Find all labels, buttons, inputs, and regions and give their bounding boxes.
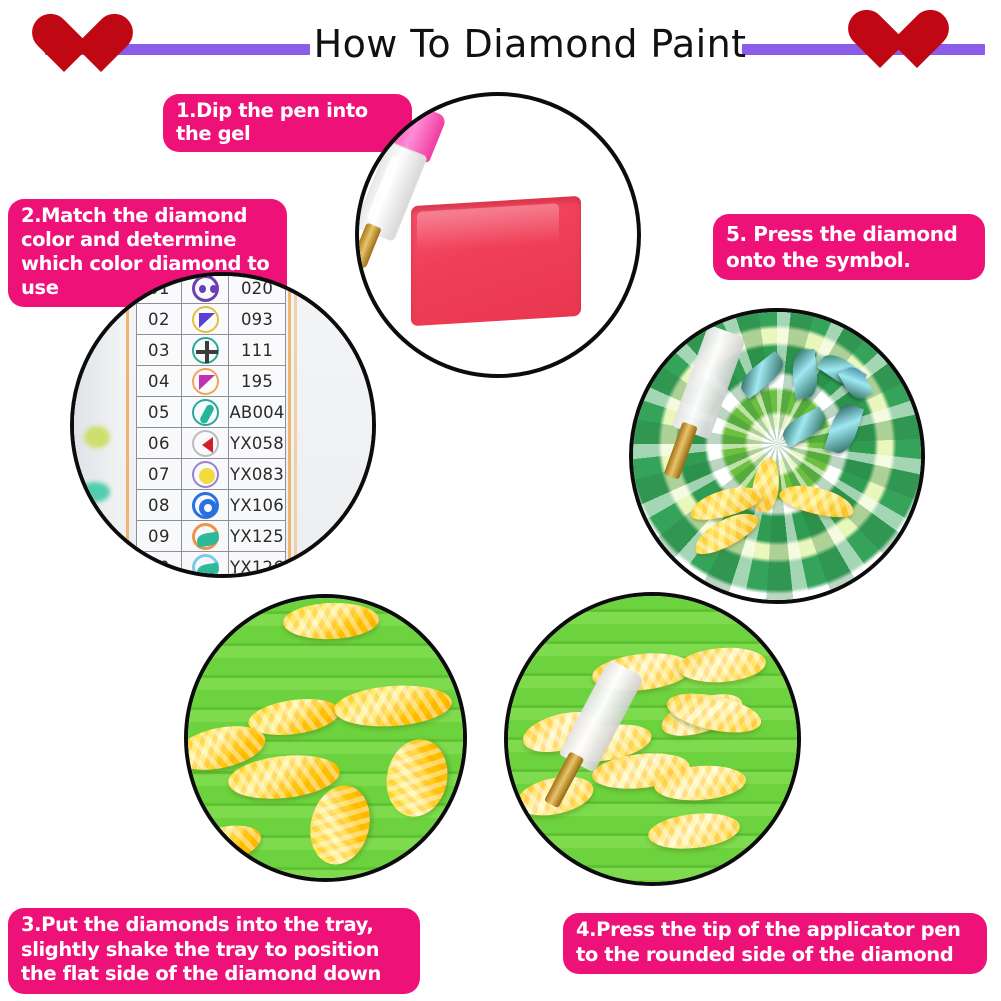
- symbol-triangle-quarter-icon: [192, 306, 219, 333]
- orange-guide-line: [126, 276, 129, 574]
- color-chart-row: 09YX125: [137, 521, 286, 552]
- chart-cell-code: YX106: [229, 490, 286, 521]
- color-chart-row: 07YX083: [137, 459, 286, 490]
- color-chart-row: 06YX058: [137, 428, 286, 459]
- orange-guide-line: [294, 276, 297, 574]
- chart-cell-code: YX125: [229, 521, 286, 552]
- color-chart-row: 01020: [137, 273, 286, 304]
- pen-tip: [664, 422, 698, 480]
- chart-cell-number: 10: [137, 552, 182, 579]
- canvas-edge: [74, 276, 120, 574]
- chart-cell-code: YX083: [229, 459, 286, 490]
- color-symbol-table: 0102002093031110419505AB00406YX05807YX08…: [136, 272, 286, 578]
- chart-cell-symbol: [182, 335, 229, 366]
- page-title: How To Diamond Paint: [300, 19, 760, 69]
- color-chart-row: 02093: [137, 304, 286, 335]
- chart-cell-code: AB004: [229, 397, 286, 428]
- color-chart-photo: 0102002093031110419505AB00406YX05807YX08…: [74, 276, 372, 574]
- header: How To Diamond Paint: [0, 0, 1001, 88]
- step-3-label: 3.Put the diamonds into the tray, slight…: [8, 908, 420, 994]
- color-chart-row: 10YX126: [137, 552, 286, 579]
- paint-blob: [84, 426, 110, 448]
- chart-cell-number: 02: [137, 304, 182, 335]
- symbol-slash-bar-icon: [192, 399, 219, 426]
- chart-cell-code: 020: [229, 273, 286, 304]
- step-1-photo: [355, 92, 641, 378]
- gel-photo: [359, 96, 637, 374]
- paint-blob: [90, 531, 114, 547]
- chart-cell-symbol: [182, 490, 229, 521]
- color-chart-row: 04195: [137, 366, 286, 397]
- pink-gel-pad: [411, 196, 581, 326]
- chart-cell-number: 04: [137, 366, 182, 397]
- symbol-double-dot-circle-icon: [192, 275, 219, 302]
- chart-cell-number: 08: [137, 490, 182, 521]
- chart-cell-symbol: [182, 366, 229, 397]
- symbol-leaf-shape-icon: [192, 554, 219, 579]
- heart-icon: [64, 16, 128, 78]
- orange-guide-line: [288, 276, 291, 574]
- chart-cell-number: 05: [137, 397, 182, 428]
- pen-tip: [355, 223, 382, 270]
- symbol-plus-cross-icon: [192, 337, 219, 364]
- infographic-page: How To Diamond Paint 1.Dip the pen into …: [0, 0, 1001, 1001]
- chart-cell-symbol: [182, 521, 229, 552]
- step-3-photo: [184, 594, 467, 882]
- chart-cell-symbol: [182, 552, 229, 579]
- chart-cell-number: 03: [137, 335, 182, 366]
- pen-tip: [544, 751, 584, 808]
- color-chart-row: 05AB004: [137, 397, 286, 428]
- tray-pen-photo: [508, 596, 797, 882]
- symbol-leaf-shape-icon: [192, 523, 219, 550]
- chart-cell-code: YX058: [229, 428, 286, 459]
- chart-cell-code: 195: [229, 366, 286, 397]
- step-5-photo: [629, 308, 925, 604]
- tray-photo: [188, 598, 463, 878]
- symbol-open-ring-icon: [192, 492, 219, 519]
- paint-blob: [80, 482, 110, 502]
- mandala-photo: [633, 312, 921, 600]
- chart-cell-symbol: [182, 428, 229, 459]
- symbol-filled-dot-icon: [192, 461, 219, 488]
- color-chart-row: 03111: [137, 335, 286, 366]
- symbol-left-chevron-icon: [192, 430, 219, 457]
- chart-cell-number: 06: [137, 428, 182, 459]
- heart-icon: [880, 12, 944, 74]
- chart-cell-symbol: [182, 459, 229, 490]
- step-2-photo: 0102002093031110419505AB00406YX05807YX08…: [70, 272, 376, 578]
- chart-cell-code: YX126: [229, 552, 286, 579]
- step-4-photo: [504, 592, 801, 886]
- chart-cell-symbol: [182, 397, 229, 428]
- step-4-label: 4.Press the tip of the applicator pen to…: [563, 913, 987, 974]
- step-5-label: 5. Press the diamond onto the symbol.: [713, 214, 985, 280]
- chart-cell-number: 07: [137, 459, 182, 490]
- color-chart-row: 08YX106: [137, 490, 286, 521]
- chart-cell-symbol: [182, 304, 229, 335]
- chart-cell-symbol: [182, 273, 229, 304]
- chart-cell-code: 093: [229, 304, 286, 335]
- chart-cell-number: 09: [137, 521, 182, 552]
- chart-cell-code: 111: [229, 335, 286, 366]
- symbol-triangle-quarter-icon: [192, 368, 219, 395]
- chart-cell-number: 01: [137, 273, 182, 304]
